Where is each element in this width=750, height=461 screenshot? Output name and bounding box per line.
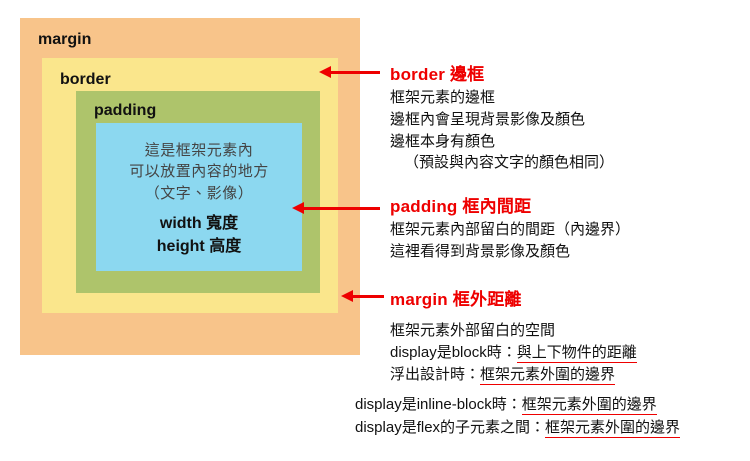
margin-line-3: 浮出設計時：框架元素外圍的邊界	[390, 364, 637, 386]
border-line-2: 邊框內會呈現背景影像及顏色	[390, 109, 614, 131]
margin-line-2-underlined: 與上下物件的距離	[517, 344, 637, 363]
section-body-padding: 框架元素內部留白的間距（內邊界） 這裡看得到背景影像及顏色	[390, 219, 630, 263]
border-layer: border padding 這是框架元素內 可以放置內容的地方 （文字、影像）…	[42, 58, 338, 313]
padding-line-1: 框架元素內部留白的間距（內邊界）	[390, 219, 630, 241]
content-line-2: 可以放置內容的地方	[96, 161, 302, 182]
margin-line-1: 框架元素外部留白的空間	[390, 320, 637, 342]
margin-line-2: display是block時：與上下物件的距離	[390, 342, 637, 364]
footnotes: display是inline-block時：框架元素外圍的邊界 display是…	[355, 394, 680, 439]
arrow-to-padding-icon	[303, 207, 380, 210]
content-spacer	[96, 204, 302, 213]
margin-layer: margin border padding 這是框架元素內 可以放置內容的地方 …	[20, 18, 360, 355]
section-heading-margin: margin 框外距離	[390, 285, 522, 310]
content-line-3: （文字、影像）	[96, 183, 302, 204]
footnote-line-1-underlined: 框架元素外圍的邊界	[522, 396, 657, 415]
content-width-label: width 寬度	[96, 213, 302, 236]
footnote-line-2-underlined: 框架元素外圍的邊界	[545, 419, 680, 438]
content-height-label: height 高度	[96, 236, 302, 259]
section-heading-border: border 邊框	[390, 60, 484, 85]
footnote-line-1: display是inline-block時：框架元素外圍的邊界	[355, 394, 680, 417]
box-model-figure: margin border padding 這是框架元素內 可以放置內容的地方 …	[0, 0, 750, 461]
padding-layer: padding 這是框架元素內 可以放置內容的地方 （文字、影像） width …	[76, 91, 320, 293]
border-layer-label: border	[42, 58, 338, 88]
section-body-margin: 框架元素外部留白的空間 display是block時：與上下物件的距離 浮出設計…	[390, 320, 637, 385]
padding-line-2: 這裡看得到背景影像及顏色	[390, 241, 630, 263]
footnote-line-1-text: display是inline-block時：	[355, 396, 522, 413]
border-line-4: （預設與內容文字的顏色相同）	[390, 152, 614, 174]
footnote-line-2-text: display是flex的子元素之間：	[355, 419, 545, 436]
arrow-to-border-icon	[330, 71, 380, 74]
margin-line-3-text: 浮出設計時：	[390, 366, 480, 383]
section-body-border: 框架元素的邊框 邊框內會呈現背景影像及顏色 邊框本身有顏色 （預設與內容文字的顏…	[390, 87, 614, 174]
border-line-1: 框架元素的邊框	[390, 87, 614, 109]
padding-layer-label: padding	[76, 91, 320, 119]
border-line-3: 邊框本身有顏色	[390, 131, 614, 153]
margin-layer-label: margin	[20, 18, 360, 48]
content-line-1: 這是框架元素內	[96, 140, 302, 161]
content-layer: 這是框架元素內 可以放置內容的地方 （文字、影像） width 寬度 heigh…	[96, 123, 302, 271]
margin-line-2-text: display是block時：	[390, 344, 517, 361]
annotation-panel: border 邊框 框架元素的邊框 邊框內會呈現背景影像及顏色 邊框本身有顏色 …	[380, 0, 750, 461]
section-heading-padding: padding 框內間距	[390, 192, 531, 217]
footnote-line-2: display是flex的子元素之間：框架元素外圍的邊界	[355, 417, 680, 440]
margin-line-3-underlined: 框架元素外圍的邊界	[480, 366, 615, 385]
